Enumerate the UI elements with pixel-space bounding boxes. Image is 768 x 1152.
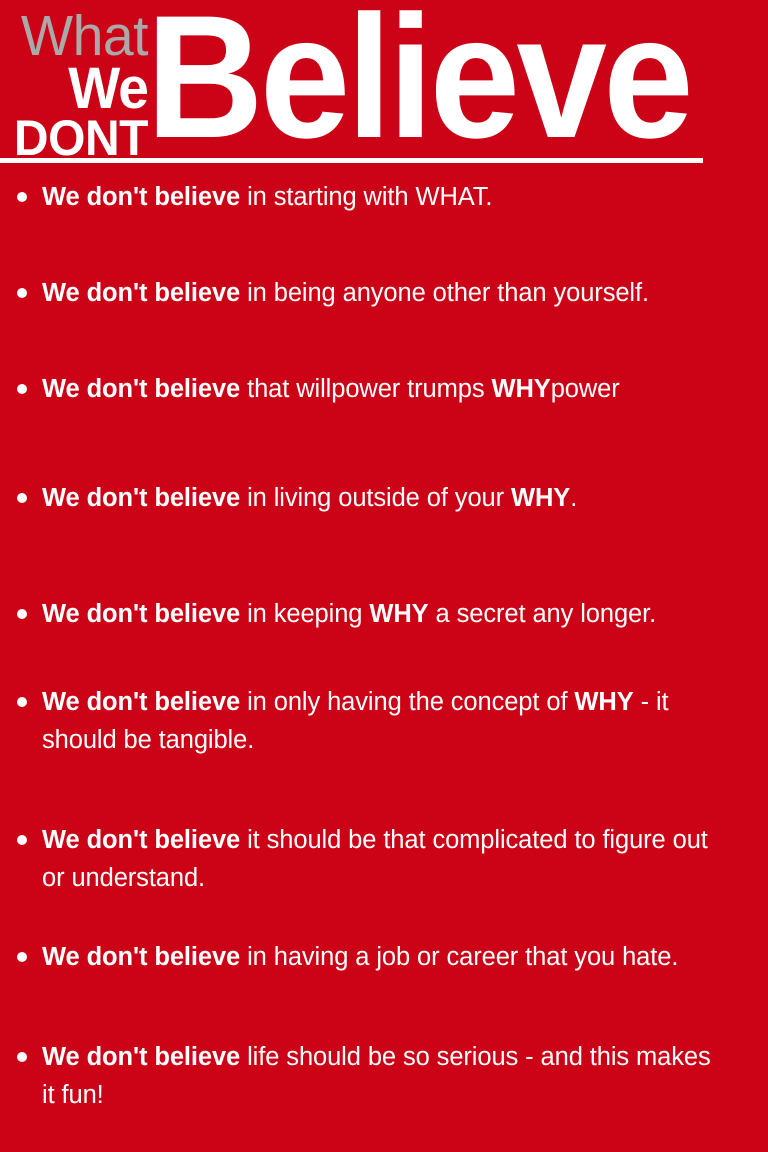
belief-text: We don't believe in starting with WHAT. <box>42 183 492 211</box>
belief-lead-phrase: We don't believe <box>42 484 240 512</box>
bullet-dot-icon <box>17 493 27 503</box>
belief-list-item: We don't believe life should be so serio… <box>0 1038 768 1114</box>
belief-lead-phrase: We don't believe <box>42 943 240 971</box>
bullet-dot-icon <box>17 1052 27 1062</box>
belief-emphasis: WHY <box>369 600 428 628</box>
belief-emphasis: WHY <box>511 484 570 512</box>
bullet-dot-icon <box>17 384 27 394</box>
belief-lead-phrase: We don't believe <box>42 279 240 307</box>
belief-text: We don't believe in being anyone other t… <box>42 279 649 307</box>
belief-lead-phrase: We don't believe <box>42 688 240 716</box>
belief-lead-phrase: We don't believe <box>42 375 240 403</box>
belief-body-text: in starting with WHAT. <box>240 183 492 211</box>
belief-body-text: in only having the concept of <box>240 688 574 716</box>
belief-body-text: in keeping <box>240 600 369 628</box>
belief-list: We don't believe in starting with WHAT.W… <box>0 178 768 1114</box>
belief-lead-phrase: We don't believe <box>42 1043 240 1071</box>
heading-small-words: What We DONT <box>0 0 148 162</box>
belief-text: We don't believe in having a job or care… <box>42 943 678 971</box>
belief-text: We don't believe in only having the conc… <box>42 688 669 754</box>
belief-text: We don't believe in keeping WHY a secret… <box>42 600 656 628</box>
belief-list-item: We don't believe in having a job or care… <box>0 938 768 976</box>
belief-lead-phrase: We don't believe <box>42 183 240 211</box>
belief-body-text: a secret any longer. <box>429 600 657 628</box>
bullet-dot-icon <box>17 288 27 298</box>
belief-text: We don't believe that willpower trumps W… <box>42 375 620 403</box>
belief-poster: What We DONT Believe We don't believe in… <box>0 0 768 168</box>
bullet-dot-icon <box>17 192 27 202</box>
belief-body-text: in being anyone other than yourself. <box>240 279 649 307</box>
belief-list-item: We don't believe in starting with WHAT. <box>0 178 768 216</box>
belief-body-text: in having a job or career that you hate. <box>240 943 678 971</box>
belief-lead-phrase: We don't believe <box>42 600 240 628</box>
belief-list-item: We don't believe in only having the conc… <box>0 683 768 759</box>
belief-list-item: We don't believe it should be that compl… <box>0 821 768 897</box>
belief-body-text: power <box>551 375 620 403</box>
bullet-dot-icon <box>17 835 27 845</box>
heading-word-we: We <box>7 64 148 114</box>
bullet-dot-icon <box>17 697 27 707</box>
belief-list-item: We don't believe in living outside of yo… <box>0 479 768 517</box>
belief-list-item: We don't believe in being anyone other t… <box>0 274 768 312</box>
belief-list-item: We don't believe that willpower trumps W… <box>0 370 768 408</box>
heading-word-dont: DONT <box>6 114 148 162</box>
belief-emphasis: WHY <box>574 688 633 716</box>
belief-text: We don't believe in living outside of yo… <box>42 484 577 512</box>
belief-lead-phrase: We don't believe <box>42 826 240 854</box>
belief-body-text: . <box>570 484 577 512</box>
belief-body-text: that willpower trumps <box>240 375 491 403</box>
bullet-dot-icon <box>17 952 27 962</box>
belief-list-item: We don't believe in keeping WHY a secret… <box>0 595 768 633</box>
header-divider-rule <box>0 158 703 163</box>
belief-text: We don't believe it should be that compl… <box>42 826 708 892</box>
poster-header: What We DONT Believe <box>0 0 768 168</box>
belief-emphasis: WHY <box>492 375 551 403</box>
heading-word-what: What <box>4 0 148 64</box>
heading-word-believe: Believe <box>146 0 690 162</box>
bullet-dot-icon <box>17 609 27 619</box>
belief-body-text: in living outside of your <box>240 484 511 512</box>
belief-text: We don't believe life should be so serio… <box>42 1043 711 1109</box>
